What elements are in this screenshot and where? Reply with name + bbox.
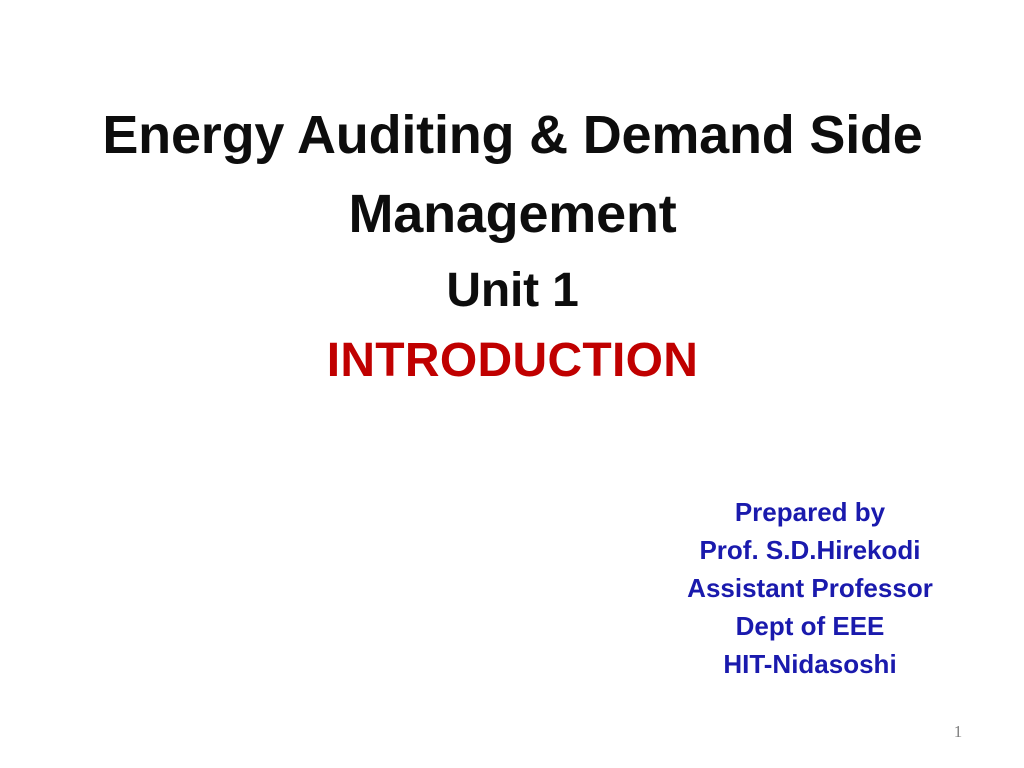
title-line-subject: Energy Auditing & Demand Side [60, 96, 965, 175]
title-line-unit: Unit 1 [60, 255, 965, 328]
credits-department: Dept of EEE [640, 607, 980, 645]
presentation-slide: Energy Auditing & Demand Side Management… [0, 0, 1024, 768]
credits-author-name: Prof. S.D.Hirekodi [640, 531, 980, 569]
slide-page-number: 1 [930, 722, 986, 742]
credits-block: Prepared by Prof. S.D.Hirekodi Assistant… [640, 493, 980, 683]
slide-title-block: Energy Auditing & Demand Side Management… [60, 96, 965, 394]
title-line-subject-cont: Management [60, 175, 965, 254]
credits-designation: Assistant Professor [640, 569, 980, 607]
credits-institute: HIT-Nidasoshi [640, 645, 980, 683]
credits-prepared-by-label: Prepared by [640, 493, 980, 531]
title-line-topic: INTRODUCTION [60, 328, 965, 394]
